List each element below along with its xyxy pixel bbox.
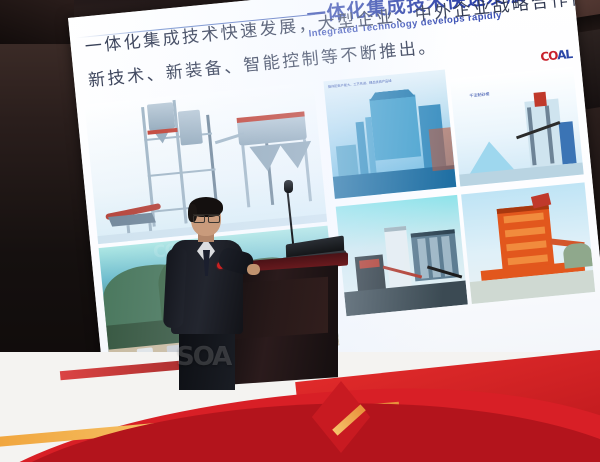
screenshot-root: 一体化集成技术快速发展 Integrated Technology develo… xyxy=(0,0,600,462)
speaker-hand xyxy=(247,264,260,275)
venue-left-shadow xyxy=(0,0,74,44)
glasses-icon xyxy=(193,214,220,221)
speaker-left-arm xyxy=(163,248,187,329)
microphone-icon xyxy=(284,180,293,193)
watermark-main: SOA xyxy=(176,342,230,372)
